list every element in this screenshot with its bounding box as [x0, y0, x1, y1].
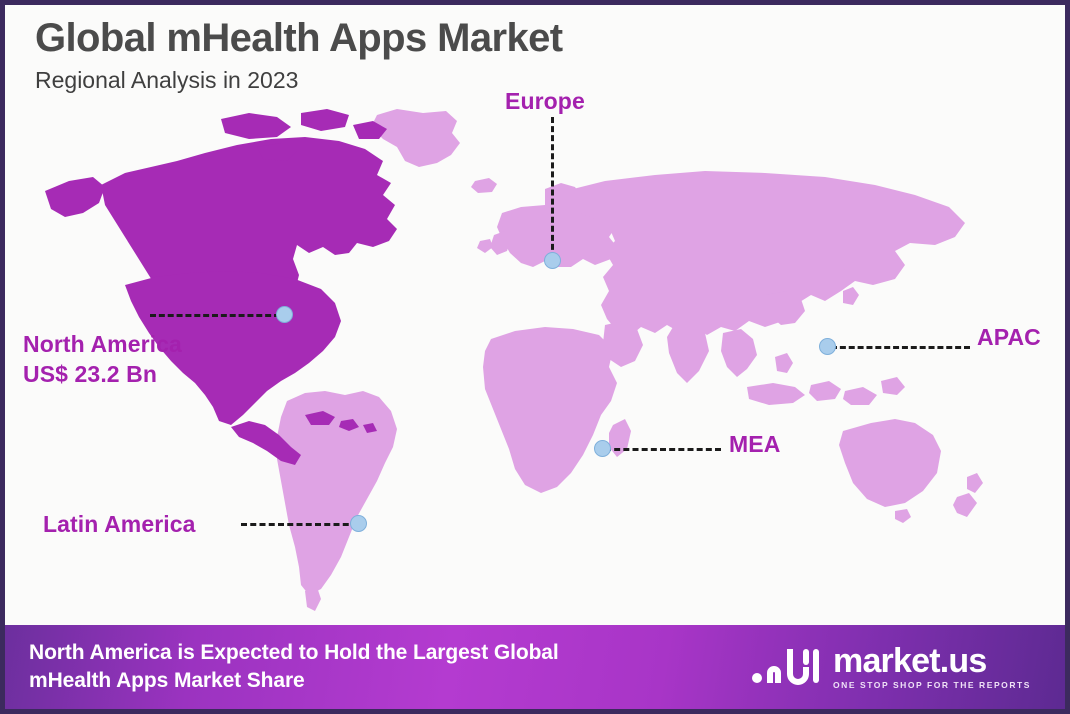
bottom-banner: North America is Expected to Hold the La…: [5, 625, 1065, 709]
leader-line-north-america: [150, 314, 280, 317]
banner-headline: North America is Expected to Hold the La…: [29, 639, 559, 696]
banner-headline-line1: North America is Expected to Hold the La…: [29, 639, 559, 667]
page-title: Global mHealth Apps Market: [35, 15, 562, 61]
leader-line-latin-america: [241, 523, 358, 526]
region-name-apac: APAC: [977, 323, 1041, 352]
region-name-mea: MEA: [729, 430, 780, 459]
logo-wordmark: market.us: [833, 644, 986, 678]
leader-line-europe: [551, 117, 554, 259]
map-marker-apac[interactable]: [819, 338, 836, 355]
region-value-north-america: US$ 23.2 Bn: [23, 360, 182, 390]
page-subtitle: Regional Analysis in 2023: [35, 67, 562, 95]
region-label-mea: MEA: [729, 430, 780, 459]
leader-line-apac: [831, 346, 970, 349]
leader-line-mea: [605, 448, 721, 451]
region-label-latin-america: Latin America: [43, 510, 196, 539]
region-label-north-america: North America US$ 23.2 Bn: [23, 330, 182, 390]
region-label-apac: APAC: [977, 323, 1041, 352]
market-us-bars-icon: [751, 643, 823, 692]
logo-text: market.us ONE STOP SHOP FOR THE REPORTS: [833, 644, 1031, 690]
region-name-latin-america: Latin America: [43, 510, 196, 539]
map-marker-latin-america[interactable]: [350, 515, 367, 532]
logo-tagline: ONE STOP SHOP FOR THE REPORTS: [833, 681, 1031, 690]
banner-headline-line2: mHealth Apps Market Share: [29, 667, 559, 695]
market-us-logo[interactable]: market.us ONE STOP SHOP FOR THE REPORTS: [751, 643, 1043, 692]
map-marker-north-america[interactable]: [276, 306, 293, 323]
header: Global mHealth Apps Market Regional Anal…: [35, 15, 562, 95]
map-marker-europe[interactable]: [544, 252, 561, 269]
infographic-canvas: Global mHealth Apps Market Regional Anal…: [0, 0, 1070, 714]
map-marker-mea[interactable]: [594, 440, 611, 457]
region-name-north-america: North America: [23, 330, 182, 360]
